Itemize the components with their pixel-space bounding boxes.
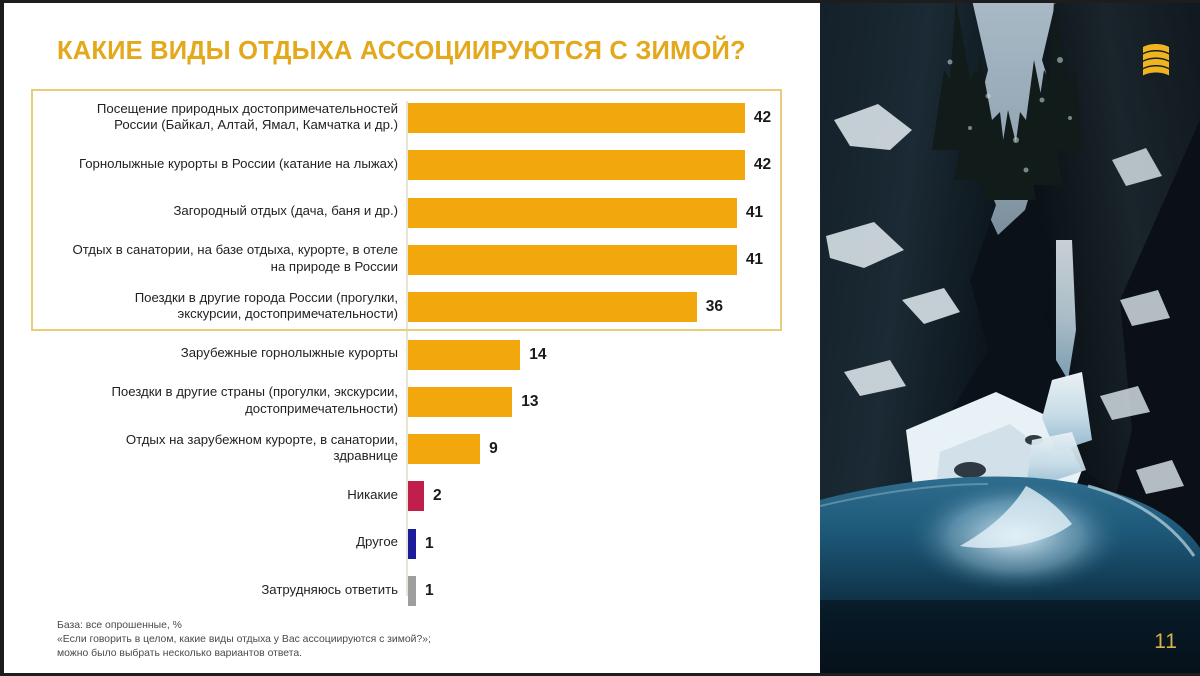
bar xyxy=(408,387,512,417)
bar-value-label: 14 xyxy=(529,346,546,364)
bar-category-label: Никакие xyxy=(28,487,398,504)
bar-value-label: 1 xyxy=(425,582,434,600)
bar-row: Никакие2 xyxy=(4,481,820,511)
content-pane: КАКИЕ ВИДЫ ОТДЫХА АССОЦИИРУЮТСЯ С ЗИМОЙ?… xyxy=(4,3,820,673)
bar-category-label: Поездки в другие страны (прогулки, экску… xyxy=(28,384,398,417)
bar-value-label: 1 xyxy=(425,535,434,553)
bar-row: Другое1 xyxy=(4,529,820,559)
bar xyxy=(408,481,424,511)
footnote-line-base: База: все опрошенные, % xyxy=(57,619,617,633)
bar xyxy=(408,529,416,559)
bar-row: Зарубежные горнолыжные курорты14 xyxy=(4,340,820,370)
slide-edge-left xyxy=(0,0,4,676)
page-number: 11 xyxy=(1154,630,1178,654)
bar-value-label: 13 xyxy=(521,393,538,411)
footnote: База: все опрошенные, % «Если говорить в… xyxy=(57,619,617,662)
bar-row: Отдых на зарубежном курорте, в санатории… xyxy=(4,434,820,464)
bar-category-label: Другое xyxy=(28,534,398,551)
top-answers-highlight-box xyxy=(31,89,782,331)
vciom-chevron-logo xyxy=(1141,42,1171,76)
footnote-line-multiselect: можно было выбрать несколько вариантов о… xyxy=(57,647,617,661)
bar-value-label: 2 xyxy=(433,487,442,505)
bar-category-label: Отдых на зарубежном курорте, в санатории… xyxy=(28,432,398,465)
slide: КАКИЕ ВИДЫ ОТДЫХА АССОЦИИРУЮТСЯ С ЗИМОЙ?… xyxy=(0,0,1200,676)
photo-illustration xyxy=(820,0,1200,676)
bar-row: Затрудняюсь ответить1 xyxy=(4,576,820,606)
bar-value-label: 9 xyxy=(489,440,498,458)
footnote-line-question: «Если говорить в целом, какие виды отдых… xyxy=(57,633,617,647)
bar xyxy=(408,434,480,464)
bar xyxy=(408,340,520,370)
bar-category-label: Затрудняюсь ответить xyxy=(28,582,398,599)
bar xyxy=(408,576,416,606)
winter-waterfall-photo: 11 xyxy=(820,0,1200,676)
bar-category-label: Зарубежные горнолыжные курорты xyxy=(28,345,398,362)
bar-chart: Посещение природных достопримечательност… xyxy=(4,3,820,613)
slide-edge-top xyxy=(0,0,1200,3)
bar-row: Поездки в другие страны (прогулки, экску… xyxy=(4,387,820,417)
